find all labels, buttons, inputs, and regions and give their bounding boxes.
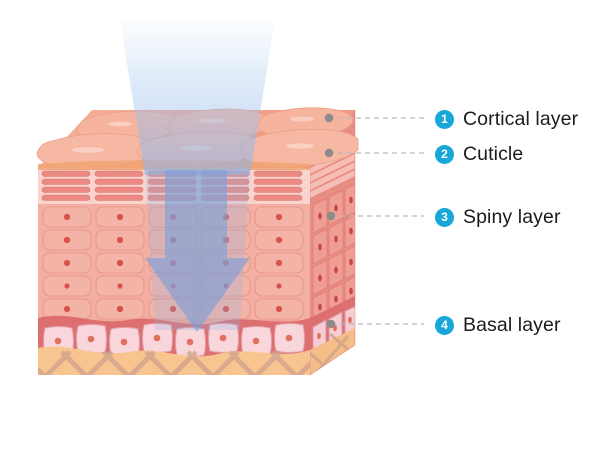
legend-badge-2: 2 xyxy=(435,145,454,164)
dermis-layer xyxy=(20,347,322,402)
diagram-canvas: 1 Cortical layer 2 Cuticle 3 Spiny layer… xyxy=(0,0,600,450)
legend-badge-3: 3 xyxy=(435,208,454,227)
legend-item-cuticle[interactable]: 2 Cuticle xyxy=(435,143,523,166)
legend-badge-1: 1 xyxy=(435,110,454,129)
legend-label-cuticle: Cuticle xyxy=(463,143,523,166)
legend-label-basal-layer: Basal layer xyxy=(463,314,561,337)
legend-item-basal-layer[interactable]: 4 Basal layer xyxy=(435,314,561,337)
legend-label-cortical-layer: Cortical layer xyxy=(463,108,578,131)
legend-badge-4: 4 xyxy=(435,316,454,335)
legend-item-spiny-layer[interactable]: 3 Spiny layer xyxy=(435,206,561,229)
legend-label-spiny-layer: Spiny layer xyxy=(463,206,561,229)
legend-item-cortical-layer[interactable]: 1 Cortical layer xyxy=(435,108,578,131)
